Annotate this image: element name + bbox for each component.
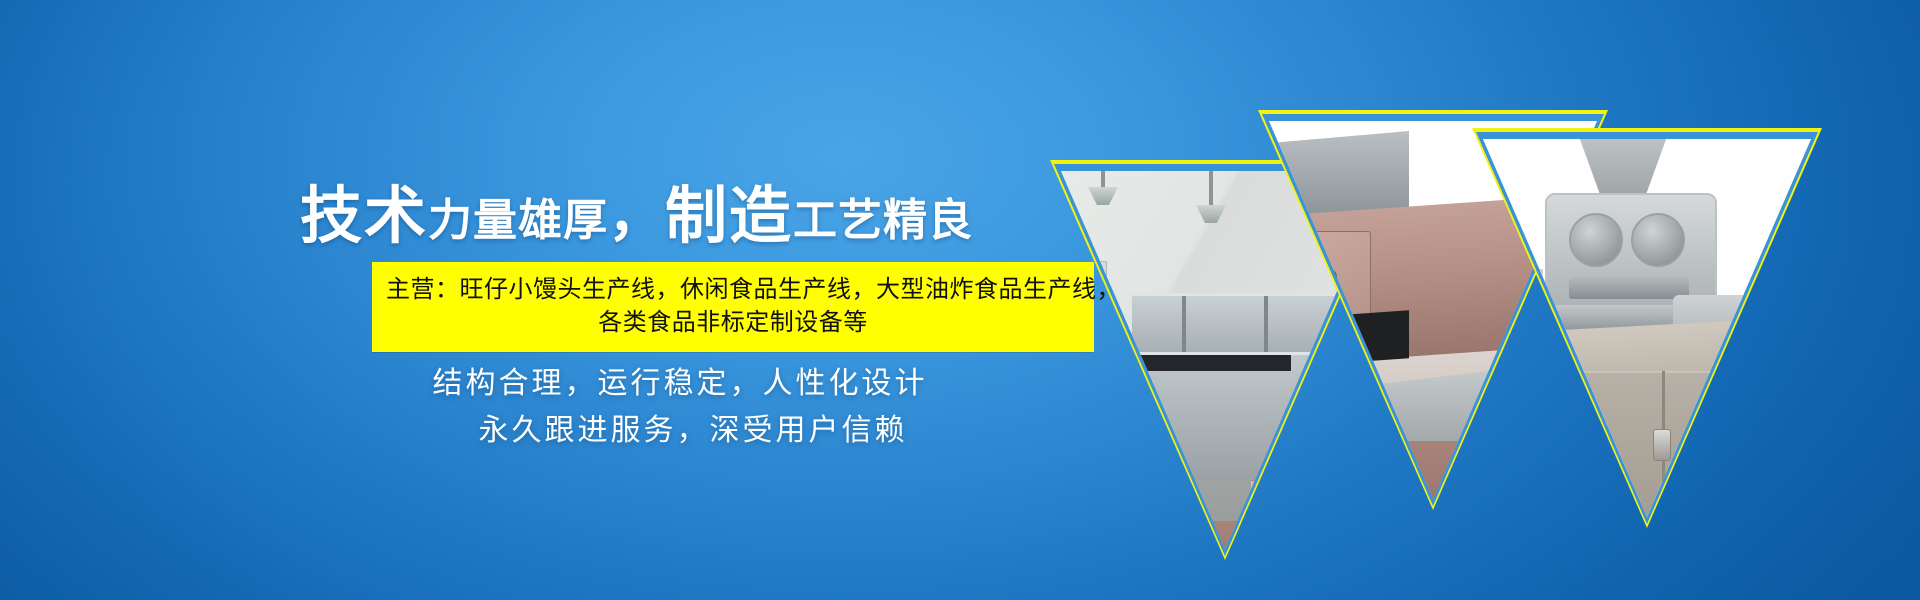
headline-part2-big: 制造	[665, 179, 793, 252]
tagline-2: 永久跟进服务，深受用户信赖	[300, 407, 1060, 454]
ribbon-line-2: 各类食品非标定制设备等	[386, 306, 1080, 339]
collage-triangle-3	[1472, 128, 1822, 528]
headline-comma: ，	[608, 184, 665, 249]
taglines: 结构合理，运行稳定，人性化设计 永久跟进服务，深受用户信赖	[300, 360, 1060, 455]
headline: 技术力量雄厚，制造工艺精良	[300, 185, 1060, 247]
photo-forming-scene	[1483, 139, 1811, 517]
main-business-ribbon: 主营：旺仔小馒头生产线，休闲食品生产线，大型油炸食品生产线， 各类食品非标定制设…	[372, 262, 1094, 352]
ribbon-line-1: 主营：旺仔小馒头生产线，休闲食品生产线，大型油炸食品生产线，	[386, 273, 1080, 306]
headline-part2-small: 工艺精良	[793, 195, 973, 246]
triangle-3-photo-forming-machine	[1483, 139, 1811, 517]
banner-copy: 技术力量雄厚，制造工艺精良 主营：旺仔小馒头生产线，休闲食品生产线，大型油炸食品…	[0, 0, 1090, 600]
headline-part1-big: 技术	[300, 179, 428, 252]
headline-part1-small: 力量雄厚	[428, 195, 608, 246]
promo-banner: 技术力量雄厚，制造工艺精良 主营：旺仔小馒头生产线，休闲食品生产线，大型油炸食品…	[0, 0, 1920, 600]
tagline-1: 结构合理，运行稳定，人性化设计	[300, 360, 1060, 407]
triangle-photo-collage	[1020, 110, 1850, 530]
